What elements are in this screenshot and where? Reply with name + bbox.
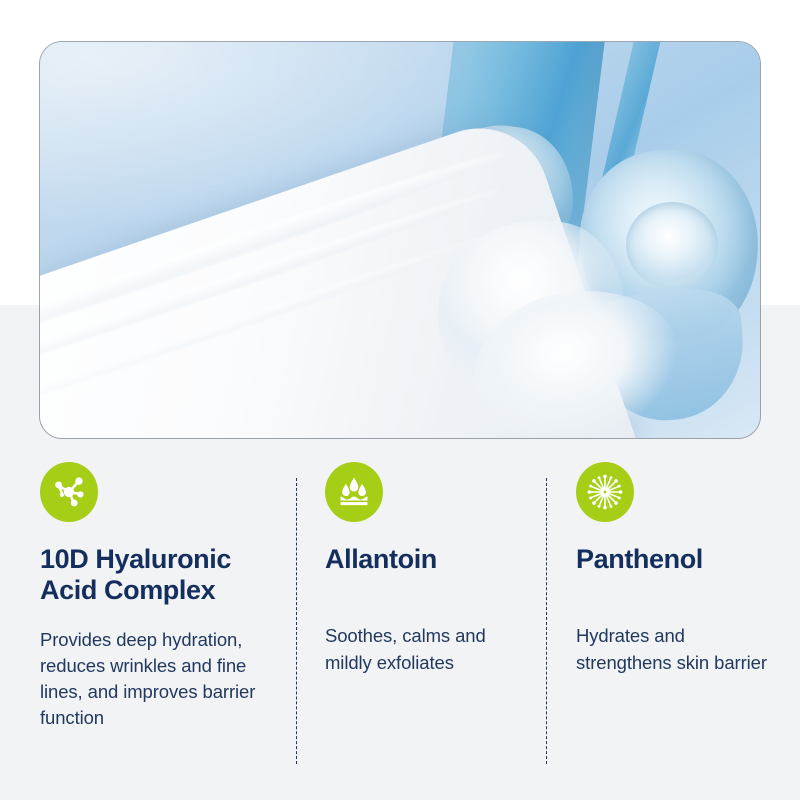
radial-burst-icon bbox=[576, 462, 634, 522]
feature-description: Soothes, calms and mildly exfoliates bbox=[325, 623, 535, 676]
feature-title: Allantoin bbox=[325, 544, 535, 575]
feature-description: Provides deep hydration, reduces wrinkle… bbox=[40, 627, 290, 732]
product-feature-infographic: 10D Hyaluronic Acid Complex Provides dee… bbox=[0, 0, 800, 800]
feature-column-panthenol: Panthenol Hydrates and strengthens skin … bbox=[576, 462, 776, 676]
feature-columns: 10D Hyaluronic Acid Complex Provides dee… bbox=[0, 462, 800, 800]
feature-title: Panthenol bbox=[576, 544, 776, 575]
water-drops-barrier-icon bbox=[325, 462, 383, 522]
molecule-icon bbox=[40, 462, 98, 522]
translucent-cap-inner-shape bbox=[626, 202, 718, 288]
feature-column-hyaluronic-acid: 10D Hyaluronic Acid Complex Provides dee… bbox=[40, 462, 290, 732]
feature-column-allantoin: Allantoin Soothes, calms and mildly exfo… bbox=[325, 462, 535, 676]
feature-title: 10D Hyaluronic Acid Complex bbox=[40, 544, 290, 607]
feature-description: Hydrates and strengthens skin barrier bbox=[576, 623, 776, 676]
hero-photo-backdrop bbox=[40, 42, 760, 438]
hero-product-image bbox=[40, 42, 760, 438]
